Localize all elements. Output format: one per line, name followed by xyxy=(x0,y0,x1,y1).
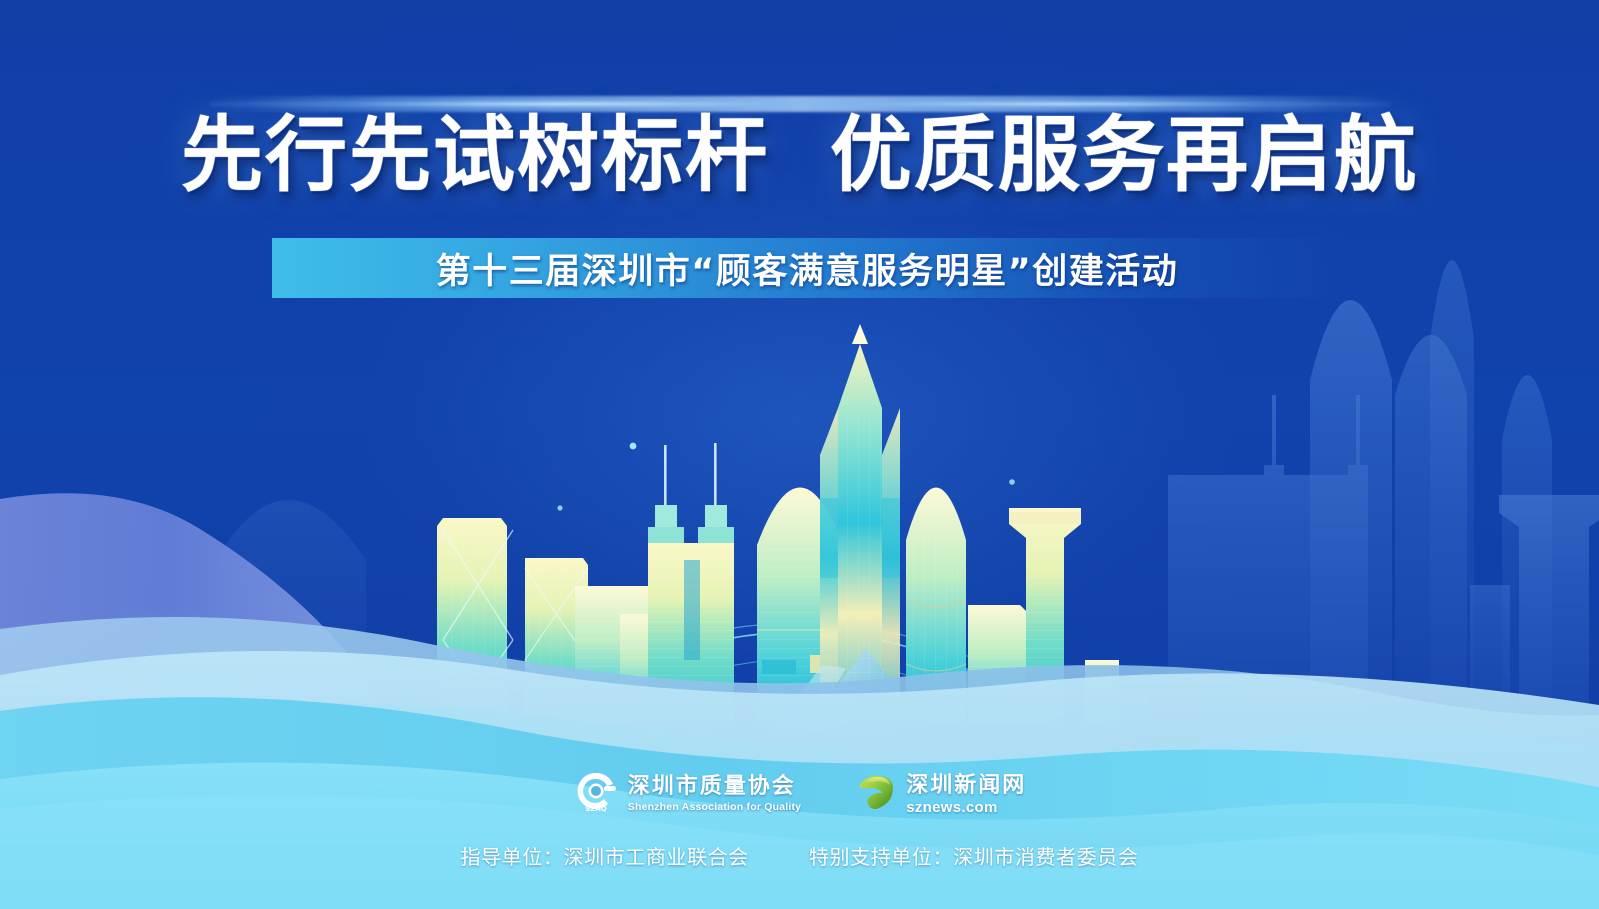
sznews-leaf-icon xyxy=(853,770,897,819)
subtitle-text: 第十三届深圳市“顾客满意服务明星”创建活动 xyxy=(436,243,1179,294)
sznews-name-cn: 深圳新闻网 xyxy=(906,775,1026,797)
szaq-circle-icon: SZAQ xyxy=(573,770,619,819)
logo-shenzhen-association-for-quality: SZAQ 深圳市质量协会 Shenzhen Association for Qu… xyxy=(573,770,801,819)
credit-special-support-unit: 特别支持单位：深圳市消费者委员会 xyxy=(809,841,1139,870)
subtitle-banner: 第十三届深圳市“顾客满意服务明星”创建活动 xyxy=(272,238,1342,298)
szaq-name-en: Shenzhen Association for Quality xyxy=(628,802,801,813)
page-title: 先行先试树标杆 优质服务再启航 xyxy=(0,112,1599,201)
title-block: 先行先试树标杆 优质服务再启航 xyxy=(0,112,1599,201)
sznews-name-en: sznews.com xyxy=(906,800,1026,815)
sznews-text-block: 深圳新闻网 sznews.com xyxy=(906,775,1026,815)
credits-row: 指导单位：深圳市工商业联合会 特别支持单位：深圳市消费者委员会 xyxy=(0,841,1599,870)
szaq-text-block: 深圳市质量协会 Shenzhen Association for Quality xyxy=(628,776,801,813)
logo-sznews: 深圳新闻网 sznews.com xyxy=(853,770,1026,819)
szaq-name-cn: 深圳市质量协会 xyxy=(628,776,801,798)
szaq-mark-text: SZAQ xyxy=(585,805,607,813)
sponsor-logo-row: SZAQ 深圳市质量协会 Shenzhen Association for Qu… xyxy=(0,770,1599,819)
credit-guiding-unit: 指导单位：深圳市工商业联合会 xyxy=(460,841,748,870)
poster-canvas: 先行先试树标杆 优质服务再启航 第十三届深圳市“顾客满意服务明星”创建活动 SZ… xyxy=(0,0,1599,909)
